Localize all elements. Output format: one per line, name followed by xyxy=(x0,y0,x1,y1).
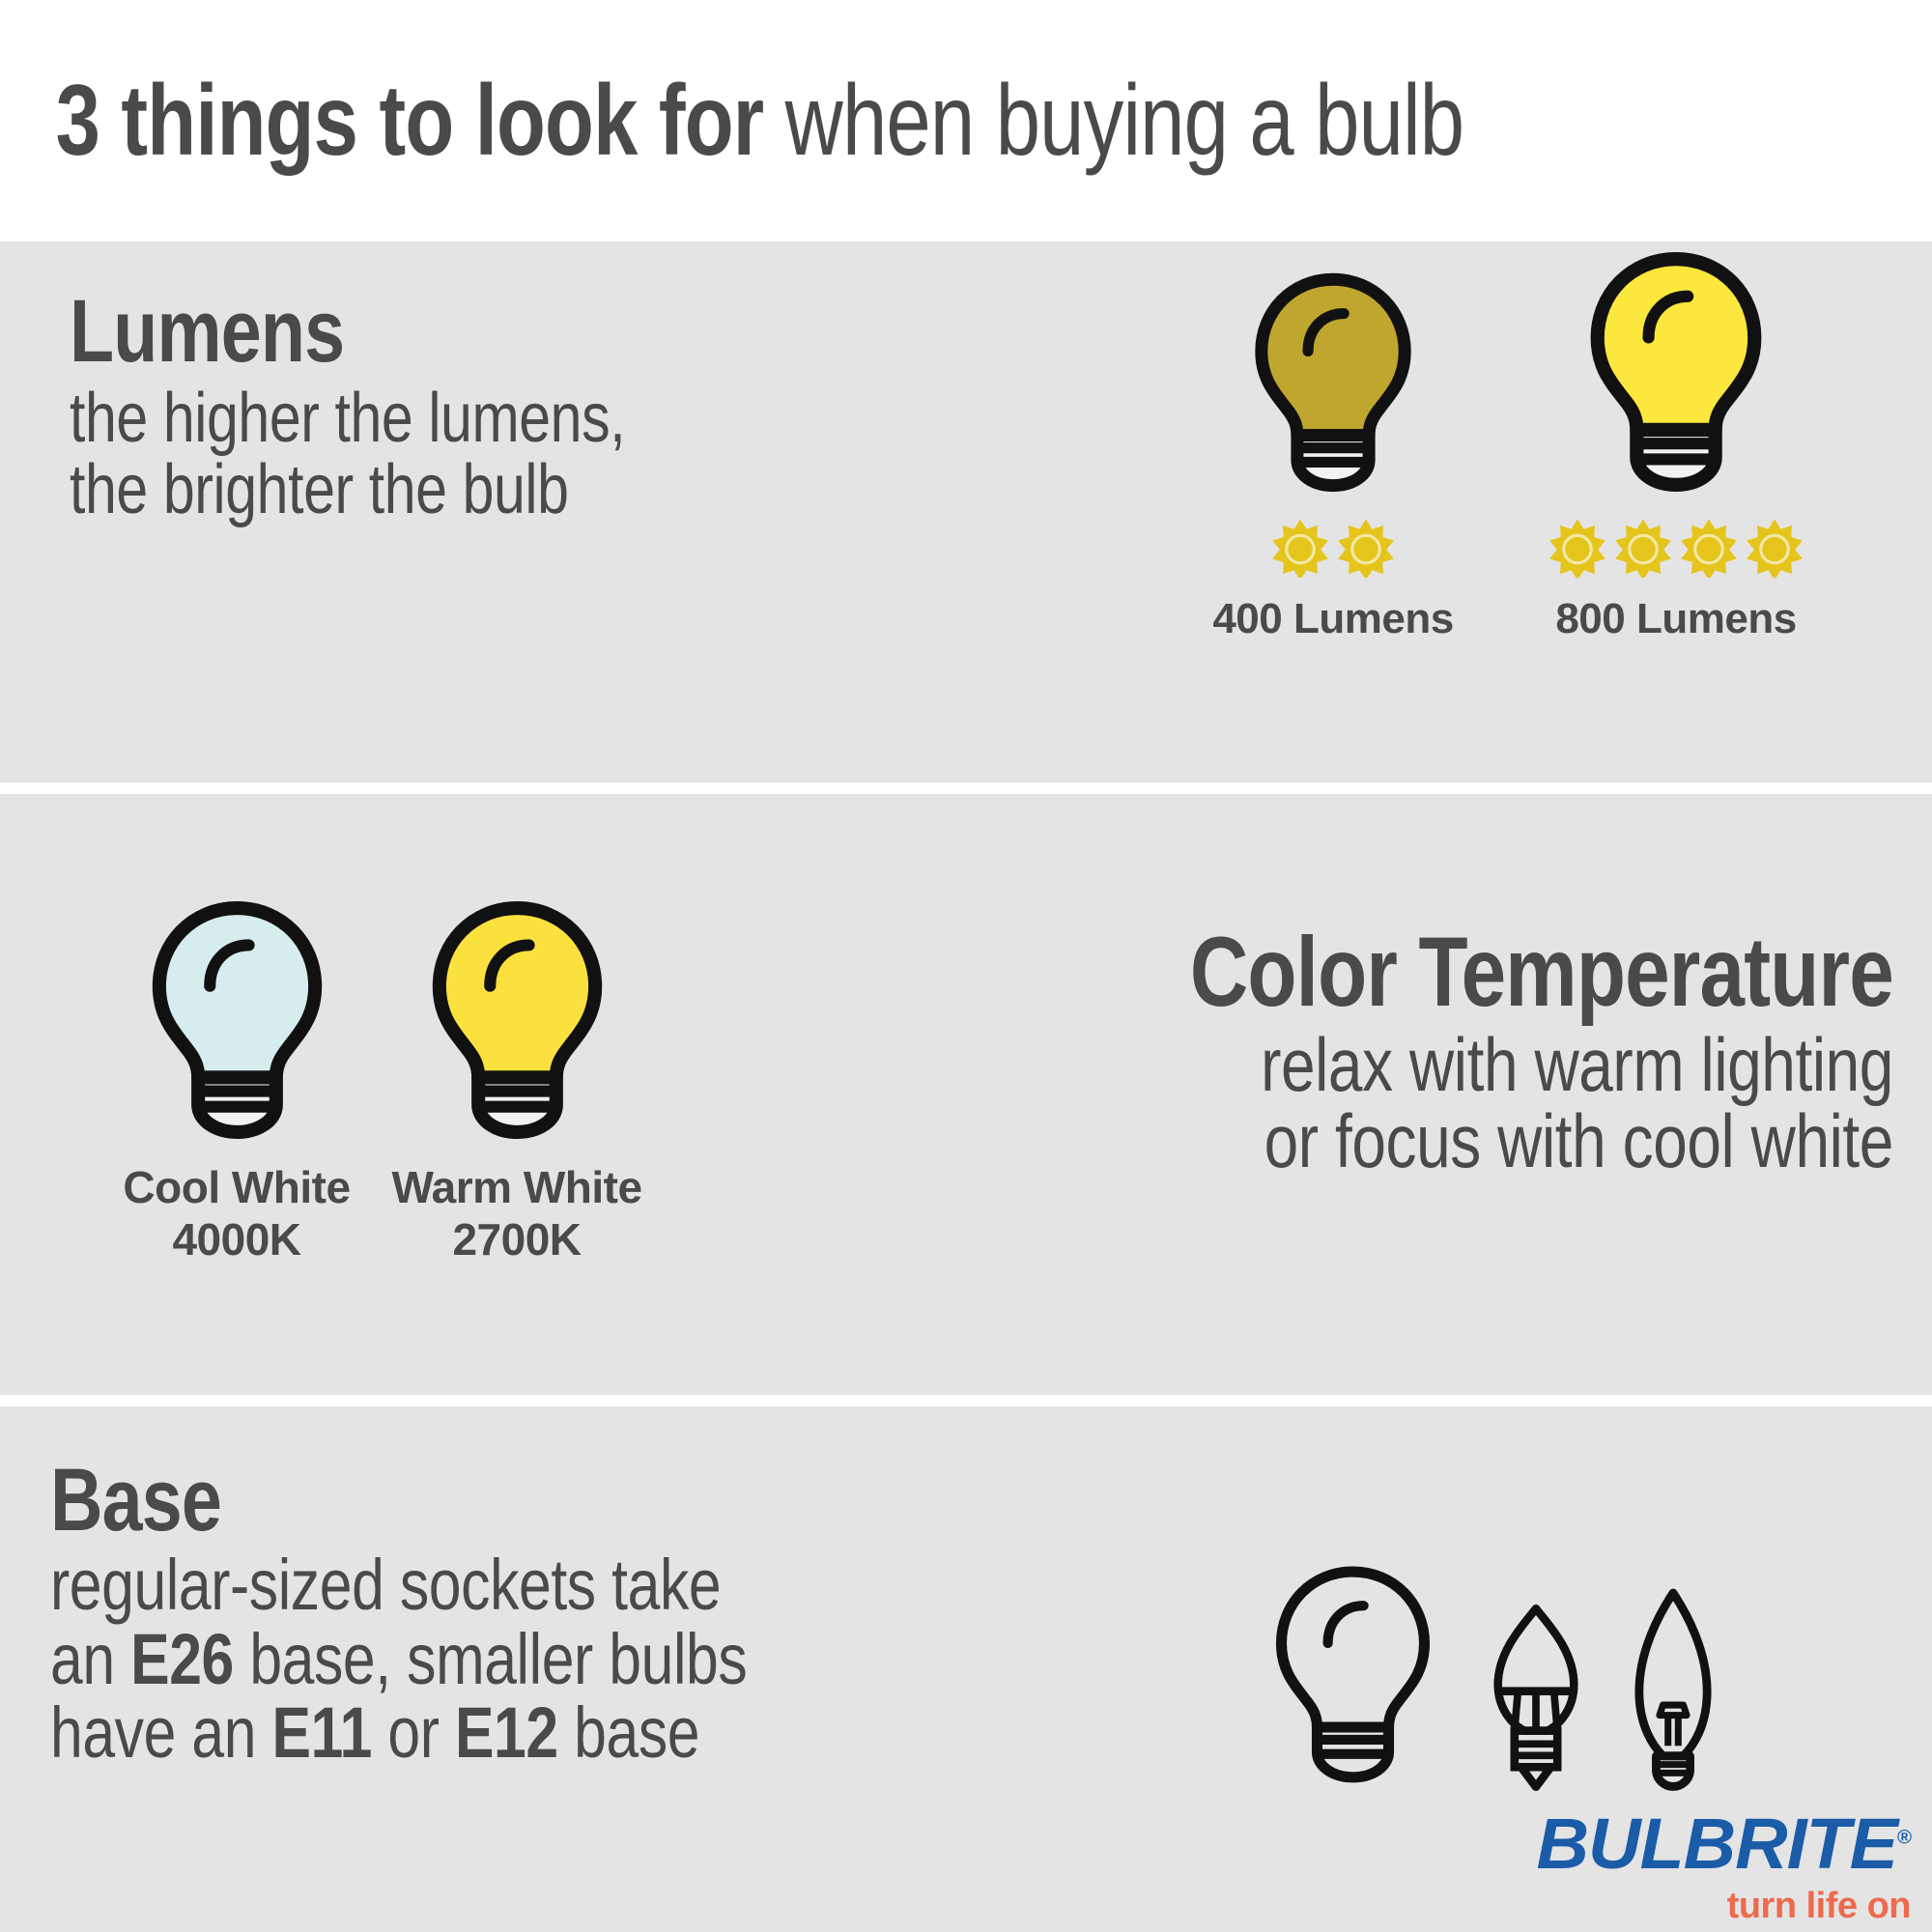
cool-white-bulb-wrap xyxy=(97,889,377,1140)
page-title: 3 things to look for when buying a bulb xyxy=(0,71,1463,171)
sun-rating-400 xyxy=(1179,514,1488,582)
infographic-page: 3 things to look for when buying a bulb … xyxy=(0,0,1932,1932)
lumens-illustration: 400 Lumens xyxy=(1179,270,1855,773)
color-temperature-illustration: Cool White 4000K Warm White 2700K xyxy=(97,889,676,1323)
base-line2-post: base, smaller bulbs xyxy=(234,1619,747,1699)
bulb-dim-wrap xyxy=(1179,270,1488,493)
warm-white-label: Warm White 2700K xyxy=(377,1161,657,1266)
sun-icon xyxy=(1336,518,1396,578)
base-heading: Base xyxy=(50,1459,747,1543)
lumens-text-block: Lumens the higher the lumens, the bright… xyxy=(70,290,747,526)
lumens-heading: Lumens xyxy=(70,290,625,374)
flame-tip-bulb-icon xyxy=(1621,1586,1725,1797)
color-temperature-sub-line-1: relax with warm lighting xyxy=(1190,1027,1893,1104)
color-temperature-text-block: Color Temperature relax with warm lighti… xyxy=(1036,925,1893,1180)
sun-icon xyxy=(1613,518,1673,578)
led-candle-bulb-icon xyxy=(1478,1599,1594,1797)
cool-white-bulb-icon xyxy=(138,898,336,1140)
header: 3 things to look for when buying a bulb xyxy=(0,0,1932,241)
base-line3-pre: have an xyxy=(50,1692,272,1773)
base-code-e12: E12 xyxy=(455,1692,558,1773)
bulbrite-wordmark: BULBRITE® xyxy=(1448,1808,1911,1880)
sun-icon xyxy=(1679,518,1739,578)
bulb-option-warm-white: Warm White 2700K xyxy=(377,889,657,1266)
flame-tip-bulb-wrap xyxy=(1621,1586,1725,1802)
base-illustration xyxy=(1246,1521,1748,1802)
sun-icon xyxy=(1270,518,1330,578)
warm-white-bulb-icon xyxy=(418,898,616,1140)
base-sub-line-2: an E26 base, smaller bulbs xyxy=(50,1623,747,1696)
lumens-label-400: 400 Lumens xyxy=(1179,595,1488,643)
color-temperature-heading: Color Temperature xyxy=(1190,925,1893,1019)
base-sub-line-3: have an E11 or E12 base xyxy=(50,1696,747,1770)
base-line3-post: base xyxy=(558,1692,699,1773)
cool-white-name: Cool White xyxy=(97,1161,377,1213)
lumens-sub-line-2: the brighter the bulb xyxy=(70,455,625,526)
lumens-label-800: 800 Lumens xyxy=(1497,595,1855,643)
sun-icon xyxy=(1548,518,1607,578)
base-line2-pre: an xyxy=(50,1619,130,1699)
a19-bulb-wrap xyxy=(1264,1550,1442,1802)
bright-bulb-icon xyxy=(1574,249,1778,493)
bulb-option-cool-white: Cool White 4000K xyxy=(97,889,377,1266)
dim-bulb-icon xyxy=(1241,270,1425,493)
warm-white-kelvin: 2700K xyxy=(377,1213,657,1265)
lumens-sub-line-1: the higher the lumens, xyxy=(70,384,625,454)
cool-white-kelvin: 4000K xyxy=(97,1213,377,1265)
page-title-bold: 3 things to look for xyxy=(56,65,764,177)
bulbrite-wordmark-text: BULBRITE xyxy=(1537,1804,1897,1884)
bulbrite-logo: BULBRITE® turn life on xyxy=(1457,1808,1911,1919)
a19-bulb-icon xyxy=(1264,1550,1442,1797)
base-text-block: Base regular-sized sockets take an E26 b… xyxy=(50,1459,900,1770)
base-sub-line-1: regular-sized sockets take xyxy=(50,1548,747,1622)
warm-white-bulb-wrap xyxy=(377,889,657,1140)
color-temperature-sub-line-2: or focus with cool white xyxy=(1190,1103,1893,1180)
registered-trademark-icon: ® xyxy=(1897,1827,1911,1848)
led-candle-bulb-wrap xyxy=(1478,1599,1594,1802)
lumens-option-400: 400 Lumens xyxy=(1179,270,1488,643)
base-line3-mid: or xyxy=(372,1692,455,1773)
cool-white-label: Cool White 4000K xyxy=(97,1161,377,1266)
lumens-option-800: 800 Lumens xyxy=(1497,270,1855,643)
base-code-e26: E26 xyxy=(130,1619,234,1699)
sun-rating-800 xyxy=(1497,514,1855,582)
sun-icon xyxy=(1745,518,1804,578)
bulb-bright-wrap xyxy=(1497,270,1855,493)
bulbrite-tagline: turn life on xyxy=(1457,1886,1911,1927)
base-code-e11: E11 xyxy=(272,1692,372,1773)
warm-white-name: Warm White xyxy=(377,1161,657,1213)
page-title-light: when buying a bulb xyxy=(763,65,1463,177)
base-line1-text: regular-sized sockets take xyxy=(50,1545,721,1625)
